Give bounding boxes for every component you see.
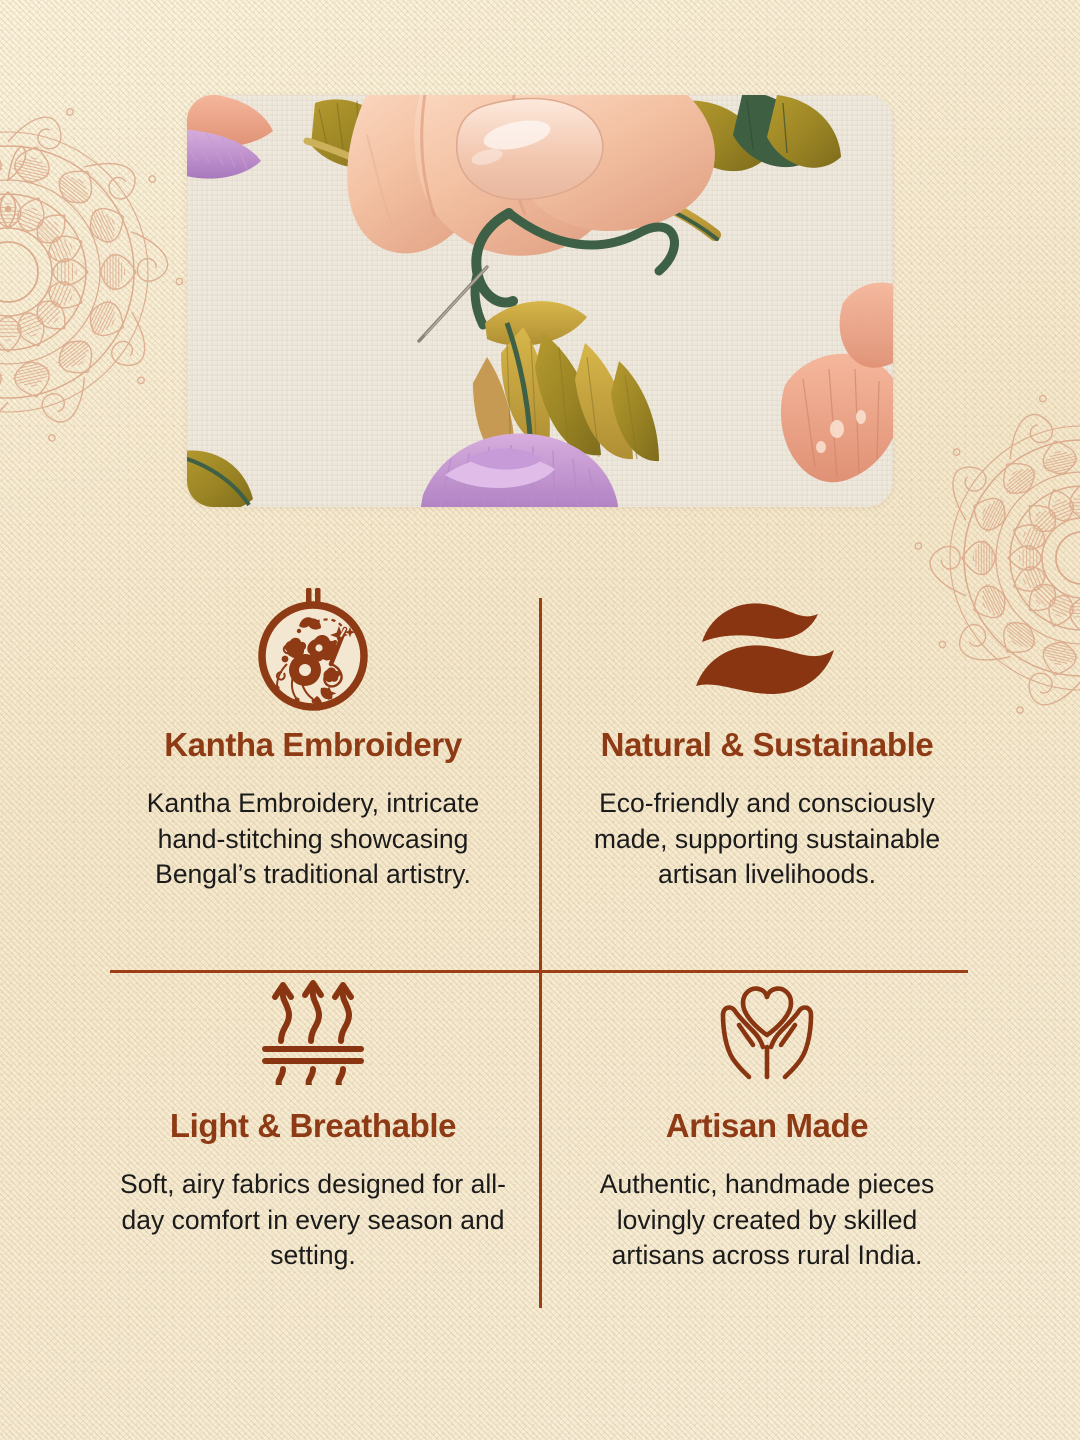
- leaf-icon: [692, 596, 842, 704]
- feature-artisan-made: Artisan Made Authentic, handmade pieces …: [540, 955, 994, 1320]
- feature-title: Natural & Sustainable: [601, 726, 934, 764]
- feature-title: Light & Breathable: [170, 1107, 456, 1145]
- feature-description: Soft, airy fabrics designed for all-day …: [117, 1167, 509, 1274]
- mandala-ornament-left: [0, 92, 188, 457]
- feature-kantha-embroidery: Kantha Embroidery Kantha Embroidery, int…: [86, 590, 540, 955]
- feature-natural-sustainable: Natural & Sustainable Eco-friendly and c…: [540, 590, 994, 955]
- feature-title: Artisan Made: [666, 1107, 868, 1145]
- embroidery-hoop-icon: [249, 596, 377, 704]
- breathable-fabric-icon: [257, 977, 369, 1081]
- page-background: Kantha Embroidery Kantha Embroidery, int…: [0, 0, 1080, 1440]
- hero-embroidery-photo: [187, 95, 893, 507]
- feature-description: Eco-friendly and consciously made, suppo…: [571, 786, 963, 893]
- feature-description: Authentic, handmade pieces lovingly crea…: [571, 1167, 963, 1274]
- feature-title: Kantha Embroidery: [164, 726, 462, 764]
- hands-heart-icon: [709, 977, 825, 1081]
- feature-description: Kantha Embroidery, intricate hand-stitch…: [117, 786, 509, 893]
- features-grid: Kantha Embroidery Kantha Embroidery, int…: [86, 590, 994, 1320]
- feature-light-breathable: Light & Breathable Soft, airy fabrics de…: [86, 955, 540, 1320]
